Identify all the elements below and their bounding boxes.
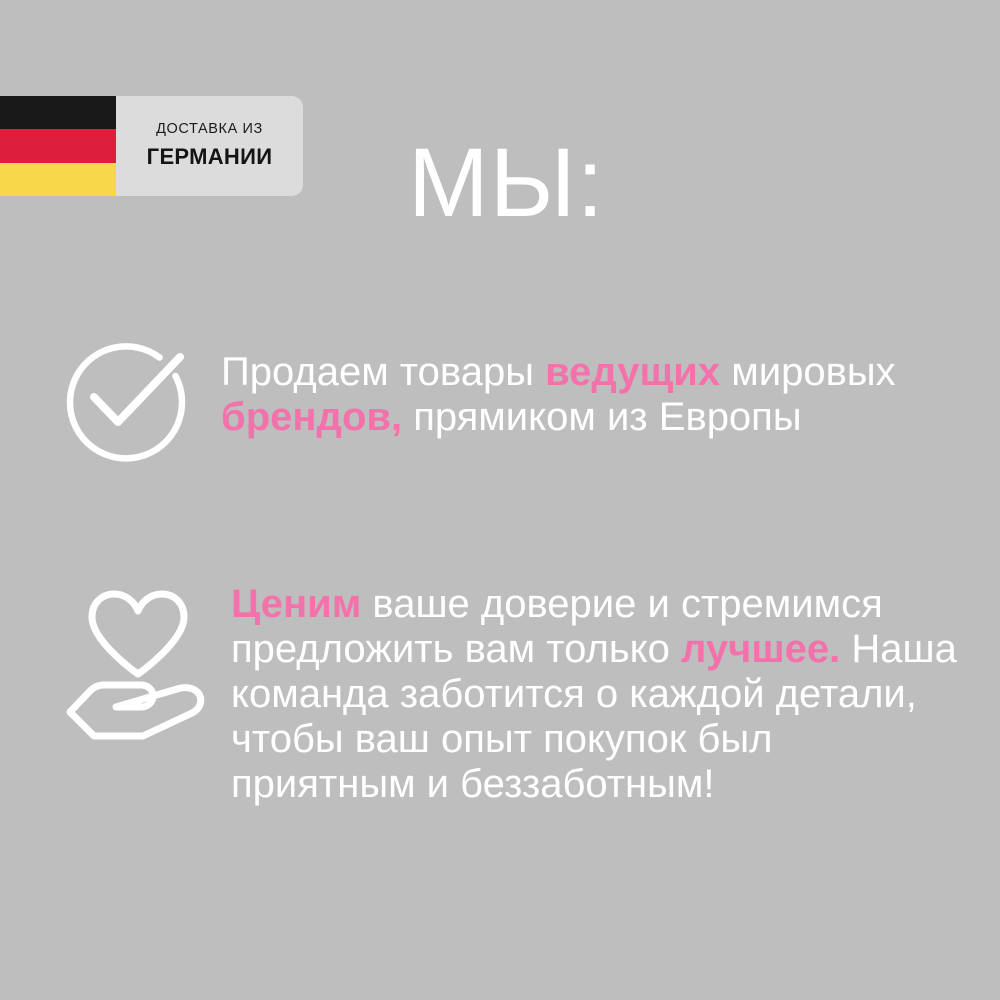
body-phrase: прямиком из Европы [402,395,802,439]
germany-flag-icon [0,96,116,196]
flag-stripe-red [0,129,116,162]
highlighted-phrase: Ценим [231,582,361,626]
germany-delivery-badge: ДОСТАВКА ИЗ ГЕРМАНИИ [0,96,303,196]
flag-stripe-black [0,96,116,129]
page-title: МЫ: [408,132,605,234]
heart-in-hand-icon [56,578,231,744]
badge-title: ГЕРМАНИИ [147,146,273,168]
highlighted-phrase: брендов, [221,395,402,439]
flag-stripe-gold [0,163,116,196]
check-circle-icon [56,328,221,468]
feature-row-1: Продаем товары ведущих мировых брендов, … [56,328,956,468]
body-phrase: Продаем товары [221,350,545,394]
feature-text-1: Продаем товары ведущих мировых брендов, … [221,328,956,440]
highlighted-phrase: лучшее. [681,627,840,671]
body-phrase: мировых [720,350,895,394]
poster-canvas: ДОСТАВКА ИЗ ГЕРМАНИИ МЫ: Продаем товары … [0,0,1000,1000]
badge-subtitle: ДОСТАВКА ИЗ [156,122,263,137]
badge-text-panel: ДОСТАВКА ИЗ ГЕРМАНИИ [116,96,303,196]
feature-text-2: Ценим ваше доверие и стремимся предложит… [231,578,966,807]
highlighted-phrase: ведущих [545,350,720,394]
feature-row-2: Ценим ваше доверие и стремимся предложит… [56,578,966,807]
